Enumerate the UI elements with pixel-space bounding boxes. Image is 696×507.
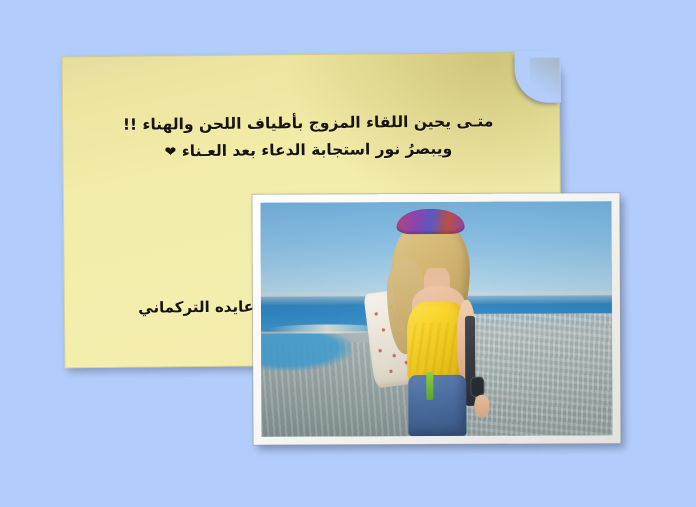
poem-line-2: ويبصرُ نور استجابة الدعاء بعد العـناء ❤ [90, 135, 526, 167]
green-belt-tag [426, 372, 434, 399]
photograph [260, 201, 612, 437]
photo-subject [366, 209, 493, 437]
photo-frame [252, 193, 620, 445]
hand [474, 395, 489, 418]
poem-text-block: متـى يحين اللقاء المزوج بأطياف اللحن وال… [90, 108, 527, 167]
headband [396, 209, 464, 234]
poem-line-2-text: ويبصرُ نور استجابة الدعاء بعد العـناء [182, 140, 453, 161]
top-fabric-folds [409, 322, 462, 381]
heart-icon: ❤ [165, 144, 177, 160]
photo-bay [261, 333, 352, 371]
folded-corner [514, 51, 560, 103]
image-canvas: متـى يحين اللقاء المزوج بأطياف اللحن وال… [0, 0, 696, 507]
author-signature: عايده التركماني [138, 296, 254, 319]
blue-jeans [408, 375, 466, 437]
photo-card [252, 193, 620, 445]
poem-line-1: متـى يحين اللقاء المزوج بأطياف اللحن وال… [90, 108, 526, 139]
